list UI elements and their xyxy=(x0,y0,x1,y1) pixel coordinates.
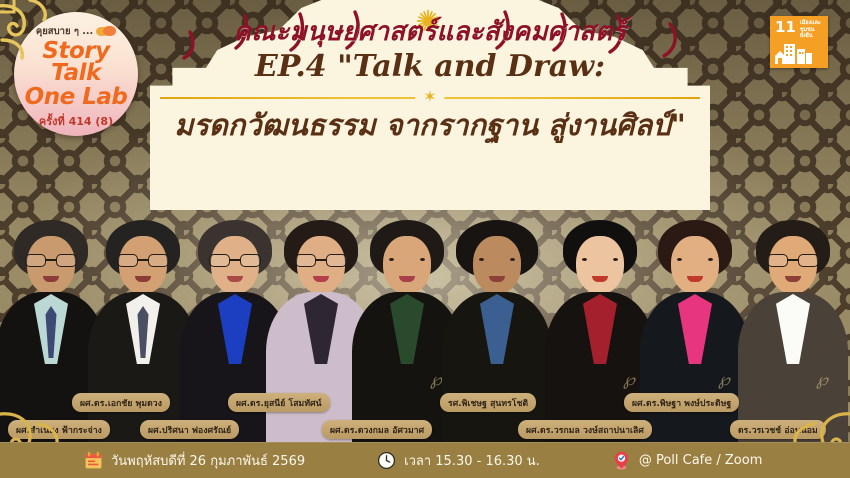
speaker-head xyxy=(376,226,438,300)
shirt xyxy=(776,294,810,364)
sdg-number: 11 xyxy=(775,20,796,35)
title-block: คณะมนุษยศาสตร์และสังคมศาสตร์ EP.4 "Talk … xyxy=(150,18,710,143)
speaker-body: ℘ xyxy=(640,292,750,442)
shirt xyxy=(304,294,338,364)
shirt xyxy=(678,294,712,364)
title-divider: ✶ xyxy=(160,89,700,105)
speaker-nametag-1: ผศ.สำเนียง ฟ้ากระจ่าง xyxy=(8,420,110,439)
footer-date-text: วันพฤหัสบดีที่ 26 กุมภาพันธ์ 2569 xyxy=(111,450,305,471)
story-talk-badge[interactable]: คุยสบาย ๆ ... Story Talk One Lab ครั้งที… xyxy=(14,12,138,136)
speaker-photo-9: ℘ xyxy=(738,226,848,442)
eye xyxy=(479,258,484,261)
speaker-head xyxy=(762,226,824,300)
badge-title-line1: Story Talk xyxy=(14,40,138,85)
speaker-nametag-9: ดร.วรเวชช์ อ่อนน้อม xyxy=(730,420,826,439)
footer-time-text: เวลา 15.30 - 16.30 น. xyxy=(404,450,540,471)
glasses-icon xyxy=(208,254,262,267)
footer-place-group: @ Poll Cafe / Zoom xyxy=(612,451,763,470)
footer-date-group: วันพฤหัสบดีที่ 26 กุมภาพันธ์ 2569 xyxy=(84,450,305,471)
shirt xyxy=(480,294,514,364)
speaker-head xyxy=(569,226,631,300)
divider-ornament-icon: ✶ xyxy=(415,88,444,106)
eye xyxy=(510,258,515,261)
face xyxy=(671,236,719,294)
footer-time-group: เวลา 15.30 - 16.30 น. xyxy=(377,450,540,471)
eye xyxy=(420,258,425,261)
speaker-nametag-4: ผศ.ดร.ยุสนีย์ โสมทัศน์ xyxy=(228,393,330,412)
face xyxy=(473,236,521,294)
eye xyxy=(613,258,618,261)
speaker-nametag-3: ผศ.ปริศนา ฟองศรัณย์ xyxy=(140,420,239,439)
speaker-nametag-6: รศ.พิเชษฐ สุนทรโชติ xyxy=(440,393,536,412)
speaker-head xyxy=(466,226,528,300)
poster-root: คณะมนุษยศาสตร์และสังคมศาสตร์ EP.4 "Talk … xyxy=(0,0,850,478)
speaker-nametag-2: ผศ.ดร.เอกชัย พุมดวง xyxy=(72,393,170,412)
monogram: ℘ xyxy=(816,370,828,390)
eye xyxy=(389,258,394,261)
speaker-head xyxy=(20,226,82,300)
badge-tagline: คุยสบาย ๆ ... xyxy=(36,24,93,39)
sdg-11-badge: 11 เมืองและชุมชนยั่งยืน xyxy=(770,16,828,68)
eye xyxy=(708,258,713,261)
speaker-nametag-5: ผศ.ดร.ดวงกมล อัศวมาศ xyxy=(322,420,432,439)
speaker-head xyxy=(664,226,726,300)
speaker-head xyxy=(290,226,352,300)
speaker-nametag-8: ผศ.ดร.พิษฐา พงษ์ประดิษฐ xyxy=(624,393,739,412)
monogram: ℘ xyxy=(623,370,635,390)
glasses-icon xyxy=(766,254,820,267)
badge-tagline-row: คุยสบาย ๆ ... xyxy=(36,24,116,39)
speaker-head xyxy=(112,226,174,300)
glasses-icon xyxy=(24,254,78,267)
face xyxy=(383,236,431,294)
shirt xyxy=(583,294,617,364)
episode-title: EP.4 "Talk and Draw: xyxy=(150,49,710,85)
faculty-title: คณะมนุษยศาสตร์และสังคมศาสตร์ xyxy=(150,18,710,47)
speaker-head xyxy=(204,226,266,300)
monogram: ℘ xyxy=(718,370,730,390)
shirt xyxy=(390,294,424,364)
footer-bar: วันพฤหัสบดีที่ 26 กุมภาพันธ์ 2569 เวลา 1… xyxy=(0,442,850,478)
speech-bubble-icon xyxy=(96,26,116,37)
eye xyxy=(582,258,587,261)
eye xyxy=(677,258,682,261)
calendar-icon xyxy=(84,451,103,470)
subtitle: มรดกวัฒนธรรม จากรากฐาน สู่งานศิลป์" xyxy=(150,107,710,143)
sdg-header: 11 เมืองและชุมชนยั่งยืน xyxy=(775,20,823,40)
shirt xyxy=(218,294,252,364)
glasses-icon xyxy=(116,254,170,267)
glasses-icon xyxy=(294,254,348,267)
monogram: ℘ xyxy=(430,370,442,390)
location-pin-icon xyxy=(612,451,631,470)
badge-episode-label: ครั้งที่ 414 (8) xyxy=(39,112,113,130)
footer-place-text: @ Poll Cafe / Zoom xyxy=(639,453,763,468)
sdg-text: เมืองและชุมชนยั่งยืน xyxy=(800,20,823,40)
badge-title-line2: One Lab xyxy=(25,86,128,109)
clock-icon xyxy=(377,451,396,470)
face xyxy=(576,236,624,294)
speaker-nametag-7: ผศ.ดร.วรกมล วงษ์สถาปนาเลิศ xyxy=(518,420,652,439)
city-buildings-icon xyxy=(775,42,821,64)
